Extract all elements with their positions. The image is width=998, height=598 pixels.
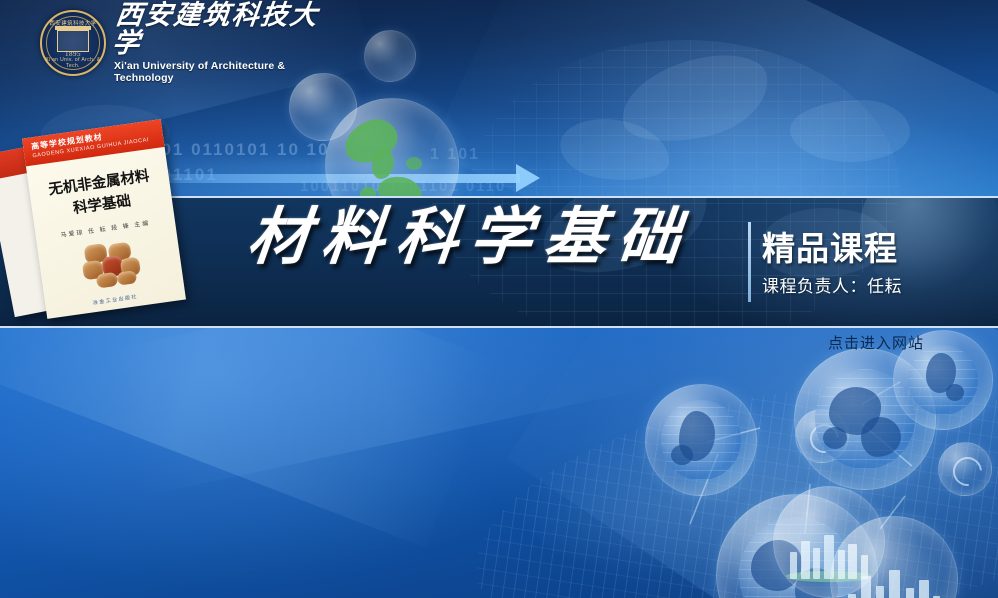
city-skyline [844, 565, 945, 598]
globe-bubble-icon [794, 348, 936, 490]
city-bubble-icon [773, 486, 885, 598]
tower-shape [876, 586, 884, 598]
tower-shape [848, 544, 857, 579]
inner-globe [739, 517, 854, 598]
right-arrow-head-icon [516, 164, 540, 192]
tower-shape [861, 555, 868, 579]
enter-link-row: 点击进入网站 [0, 324, 998, 364]
tower-shape [813, 548, 820, 579]
ring-bubble-icon [938, 442, 992, 496]
logo-text-block: 西安建筑科技大学 Xi'an University of Architectur… [114, 2, 340, 85]
tower-shape [790, 552, 797, 579]
continent-shape [946, 384, 964, 401]
tower-shape [889, 570, 900, 598]
continent-shape [614, 45, 777, 152]
tower-shape [801, 541, 810, 579]
grass-shape [785, 571, 873, 582]
book-cover-front: 高等学校规划教材 GAODENG XUEXIAO GUIHUA JIAOCAI … [22, 119, 186, 319]
title-divider [748, 222, 751, 302]
bottom-region: 点击进入网站 [0, 324, 998, 598]
emblem-building-icon [57, 30, 89, 52]
continent-shape [556, 113, 673, 188]
network-connector-lines [0, 324, 998, 598]
tower-shape [824, 535, 834, 580]
city-plane-decor [458, 357, 998, 598]
tower-shape [919, 580, 929, 598]
course-leader-label: 课程负责人：任耘 [762, 272, 902, 297]
globe-bubble-icon [716, 494, 878, 598]
inner-globe [815, 369, 916, 470]
textbook-covers: 无机 高等学校规划教材 GAODENG XUEXIAO GUIHUA JIAOC… [0, 128, 206, 318]
university-logo[interactable]: 西安建筑科技大学 1895 Xi'an Univ. of Arch. & Tec… [40, 8, 340, 78]
enter-website-link[interactable]: 点击进入网站 [828, 332, 924, 353]
premium-course-label: 精品课程 [762, 222, 898, 270]
continent-shape [861, 417, 901, 457]
bubble-decor [364, 30, 416, 82]
light-streak [507, 324, 998, 598]
tower-shape [861, 576, 871, 598]
continent-shape [671, 445, 693, 466]
tower-shape [848, 594, 856, 598]
continent-shape [795, 568, 839, 598]
globe-bubble-icon [645, 384, 757, 496]
cube-shape [117, 270, 138, 286]
book-cover-illustration [80, 239, 142, 290]
city-bubble-icon [830, 516, 958, 598]
continent-shape [679, 411, 715, 460]
university-name-cn: 西安建筑科技大学 [111, 2, 344, 59]
continent-shape [829, 387, 881, 435]
city-skyline [785, 529, 873, 580]
tower-shape [906, 588, 914, 598]
course-title: 材料科学基础 [245, 206, 696, 268]
continent-shape [790, 100, 910, 162]
university-emblem-icon: 西安建筑科技大学 1895 Xi'an Univ. of Arch. & Tec… [40, 10, 106, 76]
inner-globe [661, 400, 740, 479]
continent-shape [751, 540, 802, 591]
tower-shape [838, 550, 845, 579]
book-publisher: 冶金工业出版社 [46, 286, 186, 312]
continent-shape [823, 427, 847, 449]
university-name-en: Xi'an University of Architecture & Techn… [114, 60, 340, 84]
course-banner: 101 0110101 10 10 101101 1 101 10011010 … [0, 0, 998, 598]
cube-shape [96, 272, 119, 289]
ring-bubble-icon [795, 409, 849, 463]
emblem-arc-bottom-text: Xi'an Univ. of Arch. & Tech. [42, 57, 104, 69]
